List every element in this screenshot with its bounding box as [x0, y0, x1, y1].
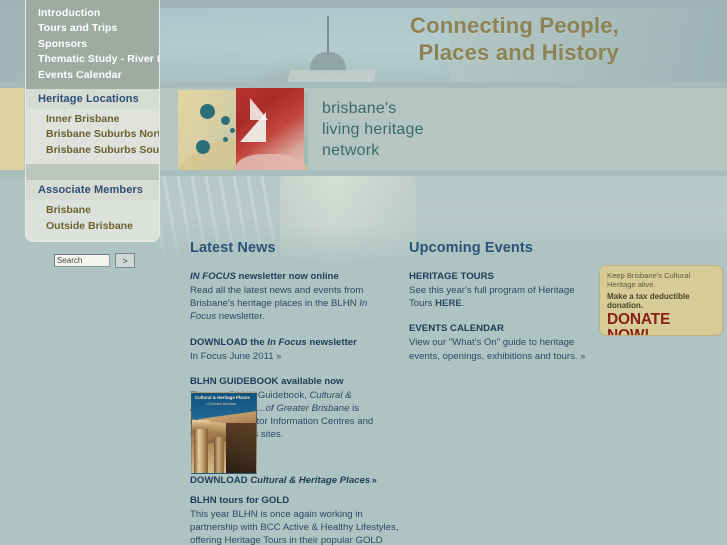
sidebar-item-brisbane[interactable]: Brisbane — [26, 203, 159, 218]
search-form: > — [54, 253, 135, 268]
cover-shadow — [226, 423, 256, 473]
nav-primary-group: Introduction Tours and Trips Sponsors Th… — [26, 0, 159, 89]
news-body-text: Read all the latest news and events from… — [190, 285, 363, 309]
cover-column-front — [194, 425, 208, 473]
gold-heading: BLHN tours for GOLD — [190, 494, 405, 507]
news-item-gold-tours: BLHN tours for GOLD This year BLHN is on… — [190, 494, 405, 545]
nav-bottom-spacer — [26, 240, 159, 242]
news-item-heading: IN FOCUS newsletter now online — [190, 270, 388, 283]
page-root: Connecting People, Places and History br… — [0, 0, 727, 545]
guidebook-cover-image[interactable]: Cultural & Heritage Places ...of Greater… — [191, 392, 257, 474]
cover-subtitle: ...of Greater Brisbane — [204, 402, 236, 406]
search-submit-button[interactable]: > — [115, 253, 135, 268]
cover-column-back — [214, 437, 224, 473]
news-item-body: Read all the latest news and events from… — [190, 284, 388, 324]
site-tagline: Connecting People, Places and History — [410, 12, 619, 66]
news-heading-rest: newsletter — [307, 337, 357, 348]
double-arrow-icon[interactable]: » — [276, 351, 280, 361]
event-item-heading: EVENTS CALENDAR — [409, 322, 589, 335]
sidebar-item-introduction[interactable]: Introduction — [26, 6, 159, 21]
logo-dot-small-1 — [230, 128, 235, 133]
news-item-download-in-focus[interactable]: DOWNLOAD the In Focus newsletter In Focu… — [190, 336, 388, 363]
event-body-text: View our "What's On" guide to heritage e… — [409, 337, 580, 361]
news-body-text[interactable]: In Focus June 2011 — [190, 351, 276, 362]
news-item-heading: DOWNLOAD the In Focus newsletter — [190, 336, 388, 349]
search-input[interactable] — [54, 254, 110, 267]
event-item-heading: HERITAGE TOURS — [409, 270, 589, 283]
guidebook-download-link[interactable]: DOWNLOAD Cultural & Heritage Places » — [190, 475, 376, 486]
logo-dot-large-1 — [200, 104, 215, 119]
event-item-body: See this year's full program of Heritage… — [409, 284, 589, 310]
logo-dot-medium — [221, 116, 230, 125]
sidebar-item-outside-brisbane[interactable]: Outside Brisbane — [26, 219, 159, 234]
upcoming-events-column: Upcoming Events HERITAGE TOURS See this … — [409, 240, 589, 375]
cover-column-capital — [192, 420, 210, 429]
sidebar-item-events-calendar[interactable]: Events Calendar — [26, 68, 159, 83]
donate-line-1: Keep Brisbane's Cultural Heritage alive. — [607, 271, 715, 290]
nav-associate-members-group: Brisbane Outside Brisbane — [26, 200, 159, 240]
news-item-body: In Focus June 2011 » — [190, 350, 388, 363]
download-label: DOWNLOAD — [190, 475, 250, 486]
nav-heritage-locations-group: Inner Brisbane Brisbane Suburbs North Br… — [26, 109, 159, 164]
tower-spire — [327, 16, 329, 56]
donate-now-label: DONATE NOW! — [607, 312, 715, 336]
event-body-tail: . — [462, 298, 465, 309]
nav-divider — [26, 164, 159, 180]
download-title-emphasis: Cultural & Heritage Places — [250, 475, 370, 486]
sidebar-section-heritage-locations[interactable]: Heritage Locations — [26, 89, 159, 109]
news-item-heading: BLHN GUIDEBOOK available now — [190, 375, 388, 388]
main-navigation: Introduction Tours and Trips Sponsors Th… — [25, 0, 160, 242]
sidebar-item-inner-brisbane[interactable]: Inner Brisbane — [26, 112, 159, 127]
donate-line-2: Make a tax deductible donation. — [607, 292, 715, 311]
event-item-body: View our "What's On" guide to heritage e… — [409, 336, 589, 362]
sidebar-item-sponsors[interactable]: Sponsors — [26, 37, 159, 52]
logo-wordmark: brisbane's living heritage network — [322, 98, 424, 161]
sidebar-item-brisbane-suburbs-north[interactable]: Brisbane Suburbs North — [26, 127, 159, 142]
event-here-link[interactable]: HERE — [435, 298, 462, 309]
sidebar-item-tours-and-trips[interactable]: Tours and Trips — [26, 21, 159, 36]
logo-dot-large-2 — [196, 140, 210, 154]
double-arrow-icon[interactable]: » — [580, 351, 584, 361]
sidebar-section-associate-members[interactable]: Associate Members — [26, 180, 159, 200]
event-item-heritage-tours: HERITAGE TOURS See this year's full prog… — [409, 270, 589, 310]
cover-title: Cultural & Heritage Places — [195, 395, 253, 401]
photo-shape-lower — [240, 112, 266, 142]
logo-dot-small-2 — [223, 137, 228, 142]
latest-news-title: Latest News — [190, 240, 388, 256]
news-heading-emphasis: IN FOCUS — [190, 271, 236, 282]
donate-box[interactable]: Keep Brisbane's Cultural Heritage alive.… — [599, 265, 723, 336]
event-body-text: See this year's full program of Heritage… — [409, 285, 575, 309]
tan-accent-left — [0, 88, 24, 176]
news-heading-rest: newsletter now online — [236, 271, 339, 282]
news-item-in-focus-online: IN FOCUS newsletter now online Read all … — [190, 270, 388, 324]
event-item-events-calendar: EVENTS CALENDAR View our "What's On" gui… — [409, 322, 589, 362]
gold-body: This year BLHN is once again working in … — [190, 508, 405, 545]
double-arrow-icon: » — [370, 475, 376, 485]
upcoming-events-title: Upcoming Events — [409, 240, 589, 256]
news-body-tail: newsletter. — [216, 311, 265, 322]
logo-heritage-photo — [236, 88, 304, 176]
news-heading-emphasis: In Focus — [267, 337, 306, 348]
sidebar-item-brisbane-suburbs-south[interactable]: Brisbane Suburbs South — [26, 143, 159, 158]
news-heading-pre: DOWNLOAD the — [190, 337, 267, 348]
sidebar-item-thematic-study[interactable]: Thematic Study - River Heritage — [26, 52, 159, 67]
